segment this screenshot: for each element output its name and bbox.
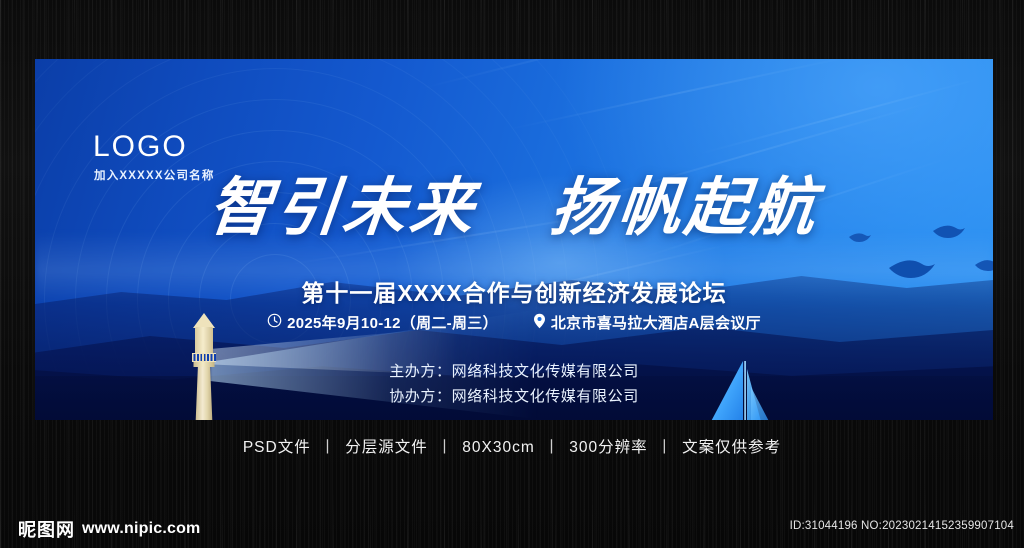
organizer-name: 网络科技文化传媒有限公司 xyxy=(452,388,639,405)
spec-strip: PSD文件丨分层源文件丨80X30cm丨300分辨率丨文案仅供参考 xyxy=(0,435,1024,457)
spec-item: 300分辨率 xyxy=(569,439,647,456)
spec-item: 80X30cm xyxy=(462,439,534,456)
page-title: 智引未来 扬帆起航 xyxy=(35,176,993,239)
location-pin-icon xyxy=(533,313,546,333)
organizers-block: 主办方：网络科技文化传媒有限公司 协办方：网络科技文化传媒有限公司 xyxy=(35,359,993,409)
asset-id-text: ID:31044196 NO:20230214152359907104 xyxy=(790,520,1014,532)
event-date-group: 2025年9月10-12（周二-周三） xyxy=(267,312,498,333)
spec-separator: 丨 xyxy=(320,439,337,456)
spec-separator: 丨 xyxy=(544,439,561,456)
organizer-label: 协办方： xyxy=(389,388,451,405)
forum-subtitle: 第十一届XXXX合作与创新经济发展论坛 xyxy=(35,274,993,308)
headline-right: 扬帆起航 xyxy=(547,170,823,244)
organizer-row: 协办方：网络科技文化传媒有限公司 xyxy=(35,384,993,409)
logo-text: LOGO xyxy=(93,132,188,162)
event-location-group: 北京市喜马拉大酒店A层会议厅 xyxy=(533,312,761,333)
headline-left: 智引未来 xyxy=(205,170,481,244)
spec-item: 分层源文件 xyxy=(345,439,428,456)
clock-icon xyxy=(267,313,282,332)
footer-bar: 昵图网 www.nipic.com ID:31044196 NO:2023021… xyxy=(0,506,1024,548)
organizer-name: 网络科技文化传媒有限公司 xyxy=(452,363,639,380)
event-date-text: 2025年9月10-12（周二-周三） xyxy=(287,312,498,333)
light-streak xyxy=(695,76,985,155)
poster-canvas: LOGO 加入XXXXX公司名称 智引未来 扬帆起航 第十一届XXXX合作与创新… xyxy=(35,59,993,420)
organizer-row: 主办方：网络科技文化传媒有限公司 xyxy=(35,359,993,384)
spec-item: PSD文件 xyxy=(243,439,311,456)
brand-name-cn: 昵图网 xyxy=(18,516,75,542)
spec-separator: 丨 xyxy=(657,439,674,456)
spec-separator: 丨 xyxy=(437,439,454,456)
organizer-label: 主办方： xyxy=(389,363,451,380)
spec-item: 文案仅供参考 xyxy=(682,439,781,456)
event-meta: 2025年9月10-12（周二-周三） 北京市喜马拉大酒店A层会议厅 xyxy=(35,312,993,333)
event-location-text: 北京市喜马拉大酒店A层会议厅 xyxy=(551,312,761,333)
site-branding: 昵图网 www.nipic.com xyxy=(18,516,200,542)
brand-url: www.nipic.com xyxy=(82,520,200,538)
